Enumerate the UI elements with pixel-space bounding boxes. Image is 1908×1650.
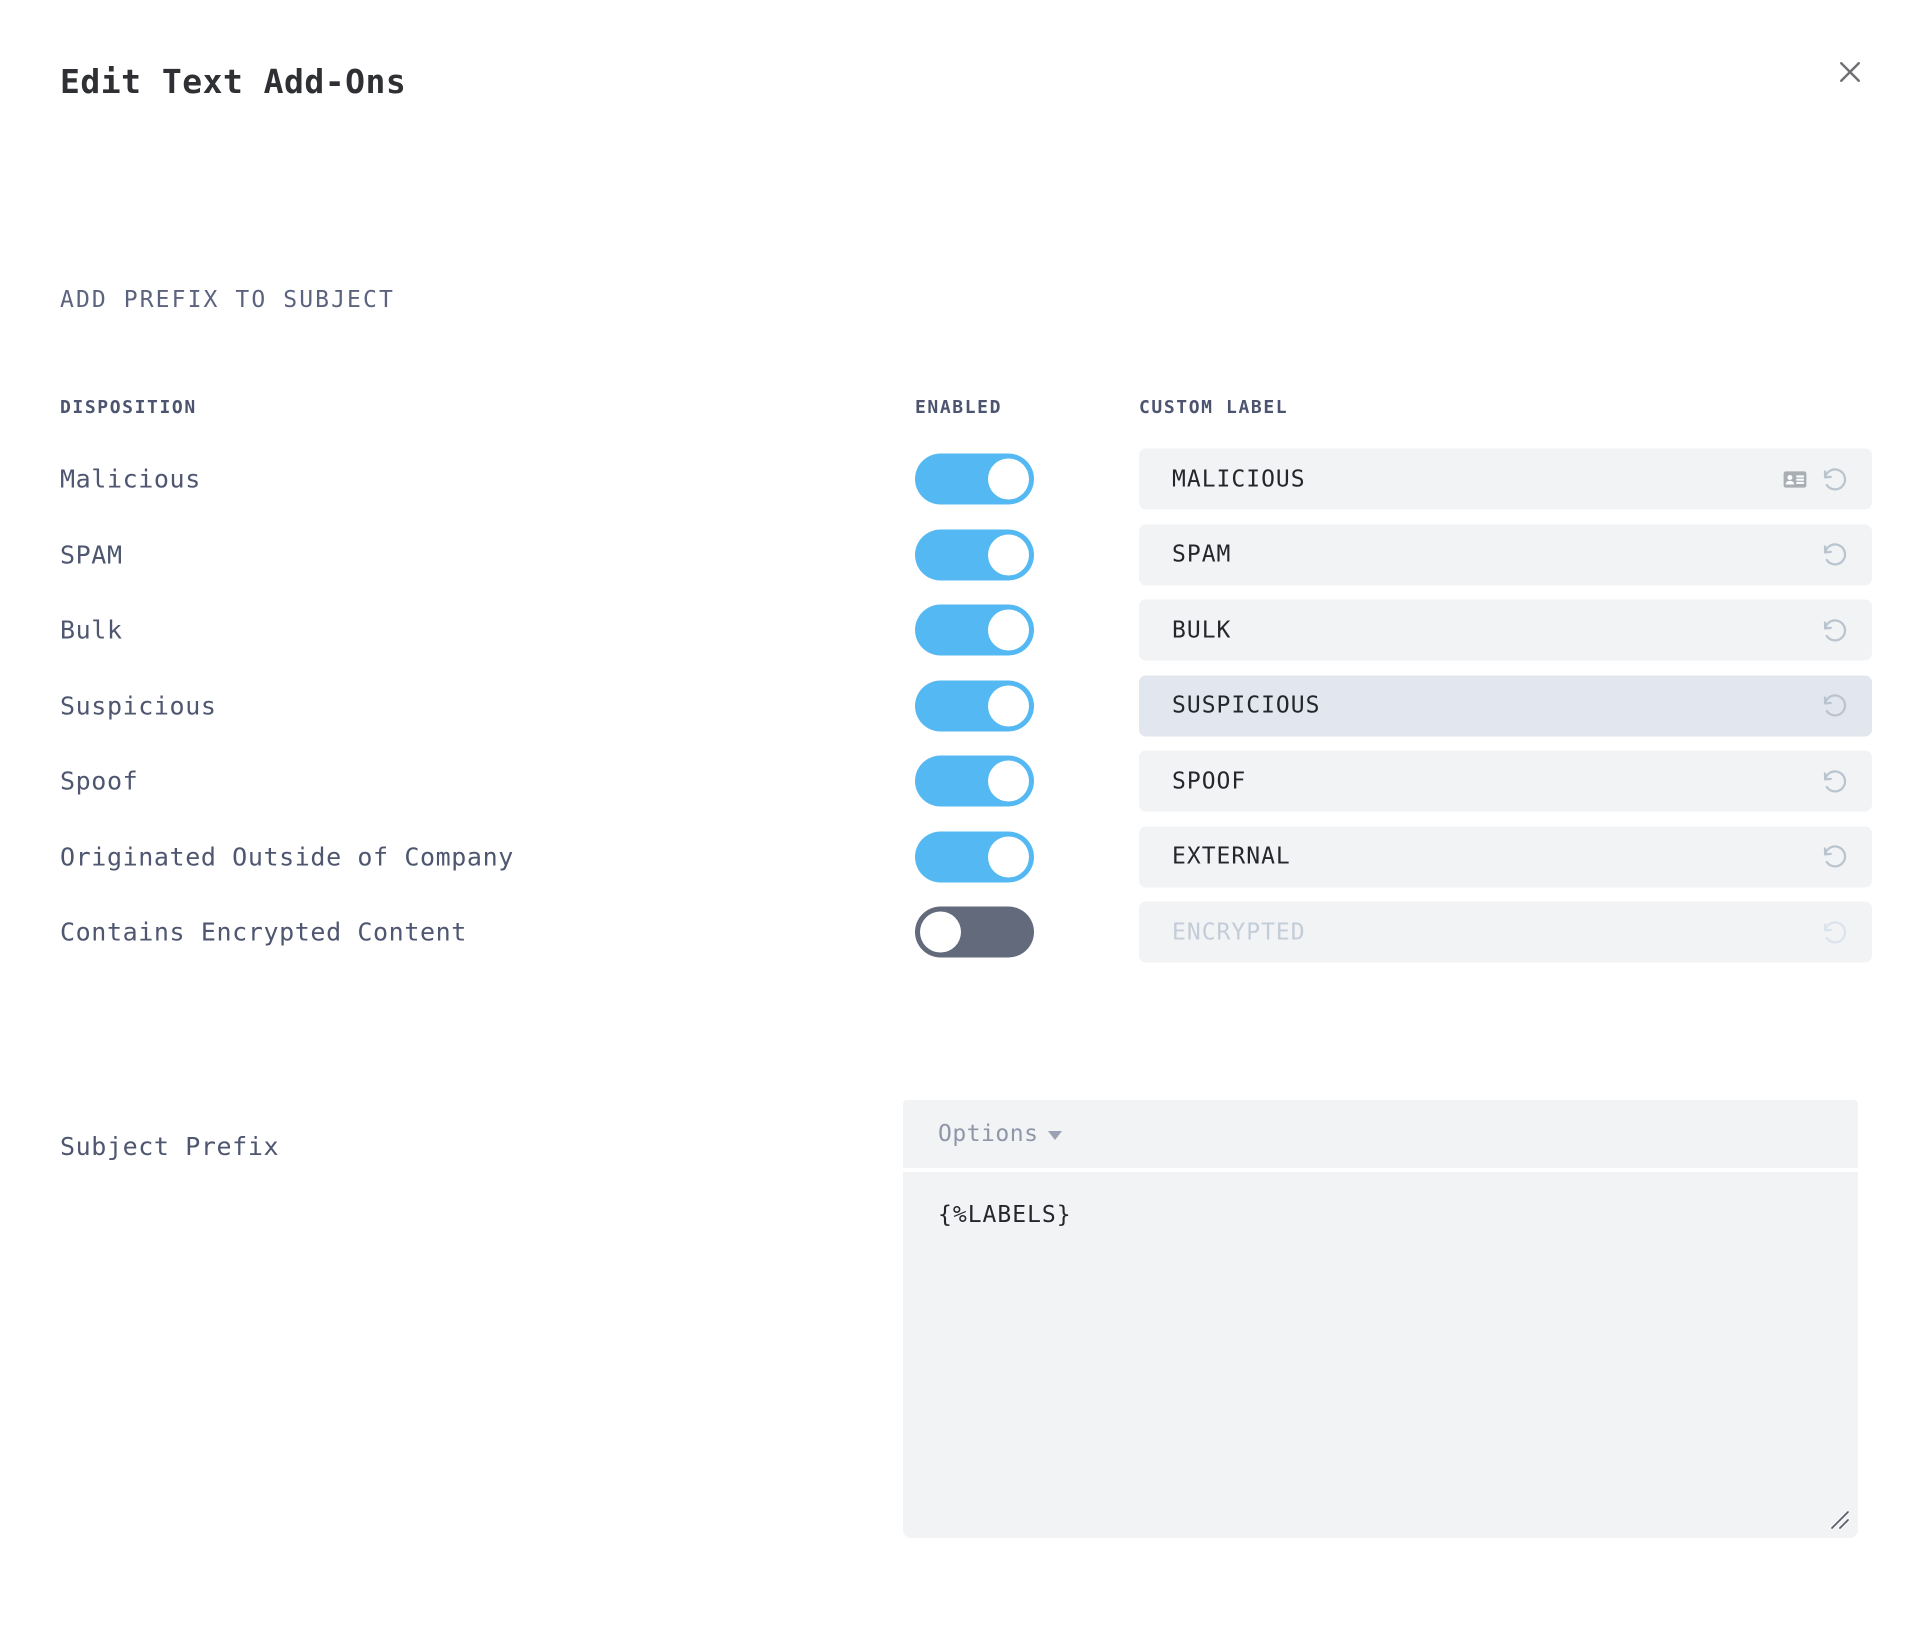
column-header-enabled: ENABLED [915,397,1002,418]
disposition-label: Malicious [60,465,201,494]
column-header-disposition: DISPOSITION [60,397,197,418]
subject-prefix-textarea[interactable]: {%LABELS} [903,1172,1858,1538]
id-card-icon[interactable] [1782,466,1808,492]
edit-text-addons-dialog: Edit Text Add-Ons ADD PREFIX TO SUBJECT … [0,0,1908,1650]
disposition-label: Bulk [60,616,123,645]
enabled-toggle[interactable] [915,831,1034,882]
custom-label-value: ENCRYPTED [1172,919,1306,945]
toggle-knob [988,685,1029,726]
disposition-label: Contains Encrypted Content [60,918,467,947]
toggle-knob [920,912,961,953]
reset-icon[interactable] [1820,464,1850,494]
custom-label-value: MALICIOUS [1172,466,1306,492]
toggle-knob [988,836,1029,877]
editor-toolbar: Options [903,1100,1858,1168]
custom-label-input[interactable]: SPOOF [1139,751,1872,812]
enabled-toggle[interactable] [915,907,1034,958]
field-icon-group [1820,691,1850,721]
field-icon-group [1820,766,1850,796]
resize-grip-icon[interactable] [1830,1510,1850,1530]
reset-icon[interactable] [1820,615,1850,645]
disposition-label: Suspicious [60,691,217,720]
custom-label-input[interactable]: SUSPICIOUS [1139,675,1872,736]
custom-label-input[interactable]: BULK [1139,600,1872,661]
table-row: SpoofSPOOF [0,744,1908,818]
disposition-label: SPAM [60,540,123,569]
subject-prefix-textarea-value: {%LABELS} [938,1202,1072,1228]
page-title: Edit Text Add-Ons [60,62,406,101]
options-dropdown[interactable]: Options [938,1121,1062,1147]
enabled-toggle[interactable] [915,756,1034,807]
reset-icon[interactable] [1820,540,1850,570]
column-header-custom-label: CUSTOM LABEL [1139,397,1288,418]
table-row: Contains Encrypted ContentENCRYPTED [0,895,1908,969]
section-title: ADD PREFIX TO SUBJECT [60,287,395,313]
disposition-label: Spoof [60,767,138,796]
field-icon-group [1820,842,1850,872]
field-icon-group [1820,615,1850,645]
custom-label-value: SPOOF [1172,768,1246,794]
close-icon [1835,57,1865,87]
disposition-label: Originated Outside of Company [60,842,514,871]
field-icon-group [1820,540,1850,570]
table-row: SPAMSPAM [0,518,1908,592]
options-dropdown-label: Options [938,1121,1038,1147]
chevron-down-icon [1048,1131,1062,1140]
toggle-knob [988,610,1029,651]
custom-label-value: BULK [1172,617,1231,643]
enabled-toggle[interactable] [915,454,1034,505]
reset-icon[interactable] [1820,766,1850,796]
field-icon-group [1820,917,1850,947]
table-row: BulkBULK [0,593,1908,667]
enabled-toggle[interactable] [915,680,1034,731]
close-button[interactable] [1826,48,1874,96]
custom-label-input[interactable]: MALICIOUS [1139,449,1872,510]
reset-icon[interactable] [1820,691,1850,721]
table-row: SuspiciousSUSPICIOUS [0,669,1908,743]
toggle-knob [988,534,1029,575]
custom-label-value: SUSPICIOUS [1172,693,1320,719]
reset-icon[interactable] [1820,842,1850,872]
custom-label-value: SPAM [1172,542,1231,568]
reset-icon [1820,917,1850,947]
table-row: Originated Outside of CompanyEXTERNAL [0,820,1908,894]
custom-label-input: ENCRYPTED [1139,902,1872,963]
toggle-knob [988,459,1029,500]
toggle-knob [988,761,1029,802]
enabled-toggle[interactable] [915,529,1034,580]
custom-label-input[interactable]: EXTERNAL [1139,826,1872,887]
table-row: MaliciousMALICIOUS [0,442,1908,516]
subject-prefix-label: Subject Prefix [60,1132,279,1161]
custom-label-input[interactable]: SPAM [1139,524,1872,585]
field-icon-group [1782,464,1850,494]
enabled-toggle[interactable] [915,605,1034,656]
custom-label-value: EXTERNAL [1172,844,1291,870]
